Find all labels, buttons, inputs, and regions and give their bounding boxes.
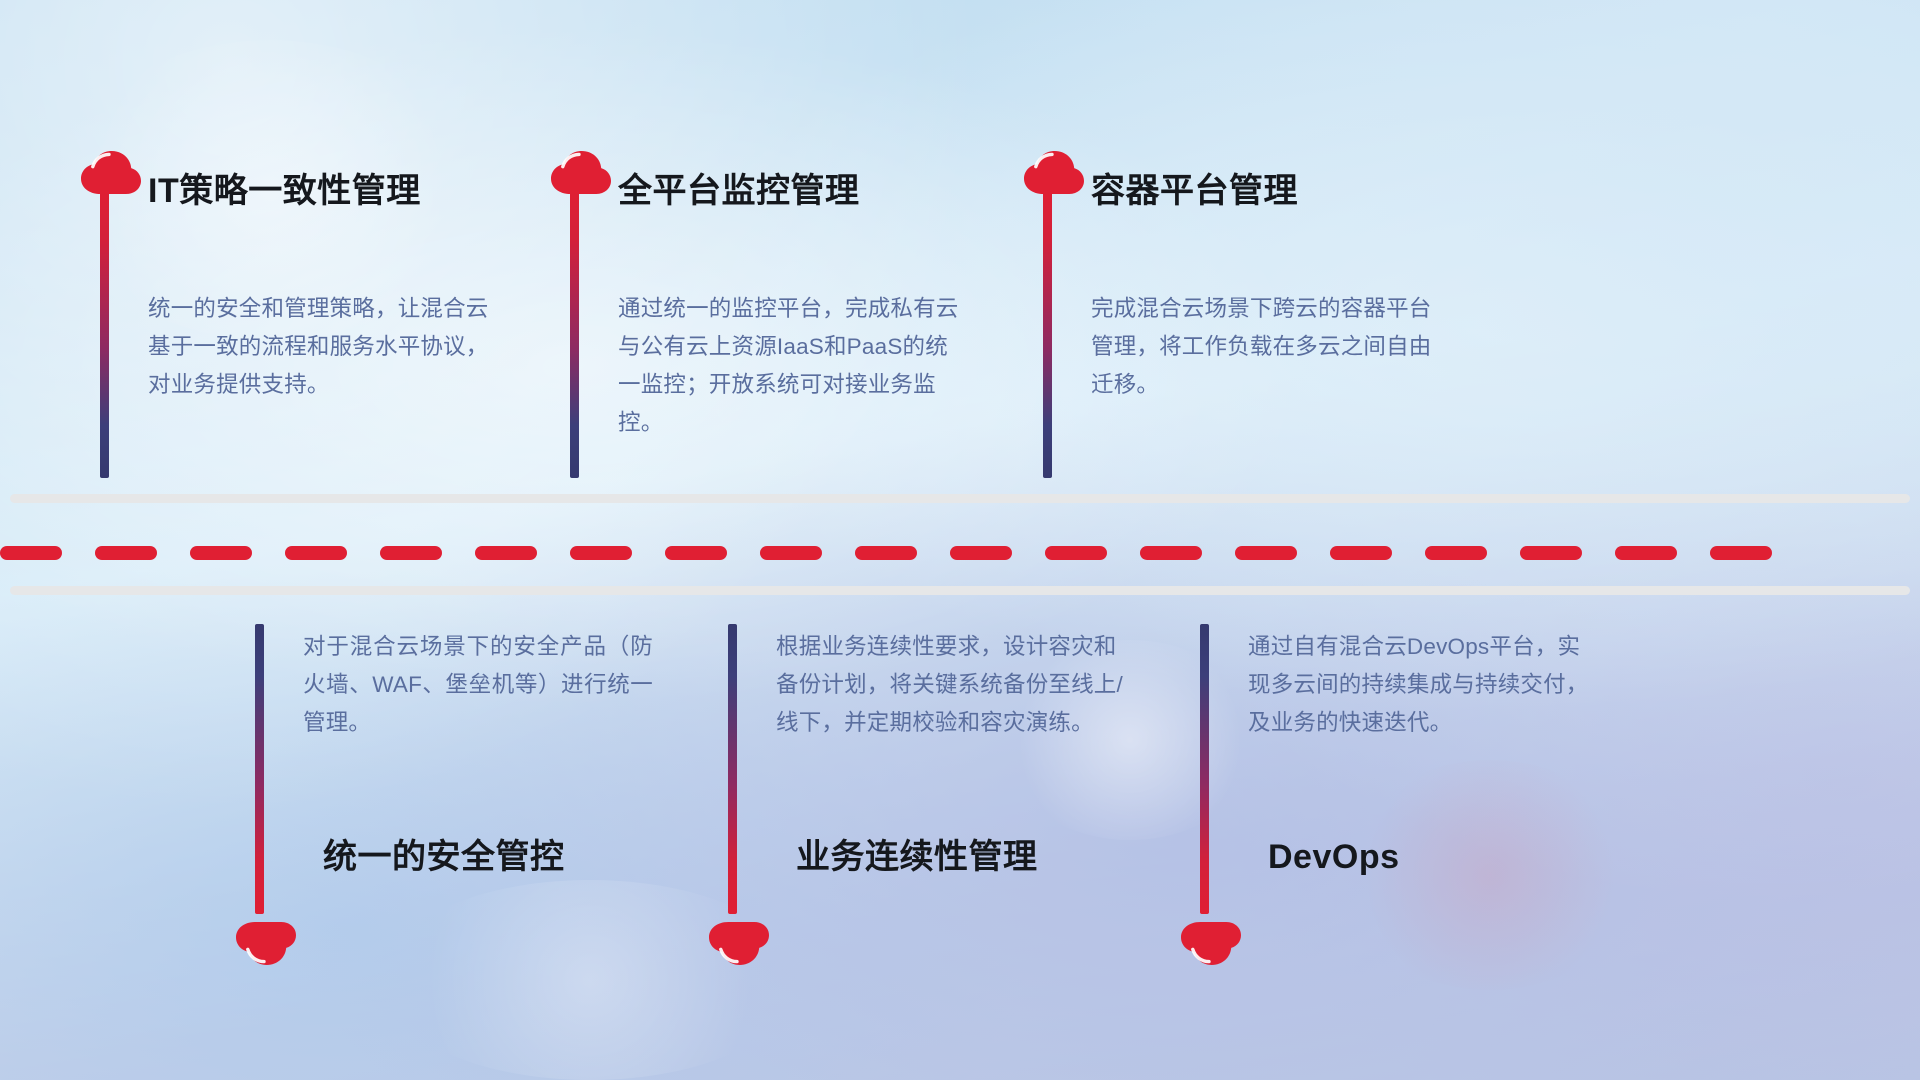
road-dash <box>380 546 442 560</box>
road-dash <box>1425 546 1487 560</box>
road-dash <box>190 546 252 560</box>
road-dash <box>1235 546 1297 560</box>
road-dash <box>950 546 1012 560</box>
top-column-1-title: IT策略一致性管理 <box>148 174 421 208</box>
cloud-pin-icon <box>1023 150 1085 196</box>
road-dash <box>1330 546 1392 560</box>
road-dash <box>1140 546 1202 560</box>
road-dash <box>285 546 347 560</box>
cloud-pin-icon <box>80 150 142 196</box>
bottom-column-3-title: DevOps <box>1268 840 1400 874</box>
top-column-1-body: 统一的安全和管理策略，让混合云基于一致的流程和服务水平协议，对业务提供支持。 <box>148 290 498 404</box>
cloud-pin-icon <box>235 920 297 966</box>
bottom-column-1-stem <box>255 624 264 914</box>
road-dash <box>1615 546 1677 560</box>
road-dash <box>665 546 727 560</box>
bottom-column-1-title: 统一的安全管控 <box>323 840 565 874</box>
infographic-canvas: IT策略一致性管理 统一的安全和管理策略，让混合云基于一致的流程和服务水平协议，… <box>0 0 1920 1080</box>
bottom-column-3-stem <box>1200 624 1209 914</box>
cloud-pin-icon <box>708 920 770 966</box>
top-column-2-body: 通过统一的监控平台，完成私有云与公有云上资源IaaS和PaaS的统一监控；开放系… <box>618 290 968 442</box>
bottom-column-2-stem <box>728 624 737 914</box>
top-column-2-stem <box>570 188 579 478</box>
bottom-column-1-body: 对于混合云场景下的安全产品（防火墙、WAF、堡垒机等）进行统一管理。 <box>303 628 653 742</box>
background-glow-3 <box>380 880 800 1080</box>
road-dash <box>1710 546 1772 560</box>
road-dashed-centerline <box>0 546 1920 560</box>
top-column-3-title: 容器平台管理 <box>1091 174 1298 208</box>
road-dash <box>855 546 917 560</box>
top-column-2-title: 全平台监控管理 <box>618 174 860 208</box>
road-dash <box>475 546 537 560</box>
top-column-3-body: 完成混合云场景下跨云的容器平台管理，将工作负载在多云之间自由迁移。 <box>1091 290 1441 404</box>
road-dash <box>1520 546 1582 560</box>
bottom-column-2-body: 根据业务连续性要求，设计容灾和备份计划，将关键系统备份至线上/线下，并定期校验和… <box>776 628 1126 742</box>
road-dash <box>95 546 157 560</box>
road-dash <box>0 546 62 560</box>
cloud-pin-icon <box>550 150 612 196</box>
road-dash <box>570 546 632 560</box>
top-column-1-stem <box>100 188 109 478</box>
road-dash <box>760 546 822 560</box>
road-rail-bottom <box>10 586 1910 595</box>
road-rail-top <box>10 494 1910 503</box>
top-column-3-stem <box>1043 188 1052 478</box>
bottom-column-2-title: 业务连续性管理 <box>796 840 1038 874</box>
road-dash <box>1045 546 1107 560</box>
cloud-pin-icon <box>1180 920 1242 966</box>
bottom-column-3-body: 通过自有混合云DevOps平台，实现多云间的持续集成与持续交付，及业务的快速迭代… <box>1248 628 1598 742</box>
